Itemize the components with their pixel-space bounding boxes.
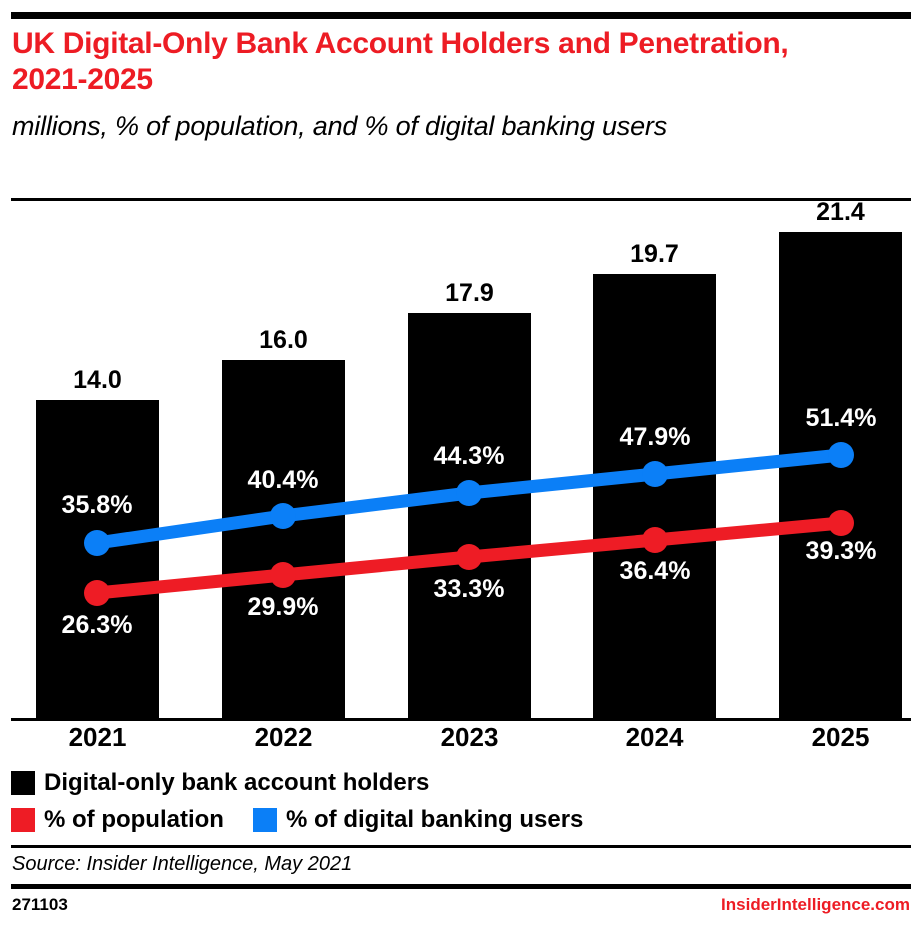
legend-item-population[interactable]: % of population	[11, 805, 224, 835]
population-label-2023: 33.3%	[399, 575, 539, 604]
digital-users-label-2023: 44.3%	[399, 442, 539, 471]
source-note: Source: Insider Intelligence, May 2021	[12, 853, 352, 876]
digital-users-line-point-2025	[828, 442, 854, 468]
digital-users-line-point-2021	[84, 530, 110, 556]
chart-legend: Digital-only bank account holders % of p…	[11, 768, 911, 838]
population-label-2025: 39.3%	[771, 537, 911, 566]
page-title: UK Digital-Only Bank Account Holders and…	[12, 26, 842, 98]
legend-label-bars: Digital-only bank account holders	[44, 769, 429, 797]
x-axis-tick-2025: 2025	[779, 722, 902, 753]
source-rule-top	[11, 845, 911, 848]
brand-link[interactable]: InsiderIntelligence.com	[721, 895, 910, 915]
blue-square-icon	[253, 808, 277, 832]
x-axis-tick-2022: 2022	[222, 722, 345, 753]
plot-area: 14.016.017.919.721.4 35.8%40.4%44.3%47.9…	[0, 200, 922, 720]
x-axis-tick-2024: 2024	[593, 722, 716, 753]
population-line-point-2025	[828, 510, 854, 536]
digital-users-line-point-2022	[270, 503, 296, 529]
population-line-point-2024	[642, 527, 668, 553]
top-rule	[11, 12, 911, 19]
digital-users-line-point-2023	[456, 480, 482, 506]
population-line-point-2023	[456, 544, 482, 570]
x-axis-line	[11, 718, 911, 721]
digital-users-label-2021: 35.8%	[27, 491, 167, 520]
x-axis-tick-2023: 2023	[408, 722, 531, 753]
population-line-point-2021	[84, 580, 110, 606]
legend-item-bars[interactable]: Digital-only bank account holders	[11, 768, 429, 798]
source-rule-bottom	[11, 884, 911, 889]
red-square-icon	[11, 808, 35, 832]
x-axis-tick-2021: 2021	[36, 722, 159, 753]
chart-page: UK Digital-Only Bank Account Holders and…	[0, 0, 922, 925]
legend-label-population: % of population	[44, 806, 224, 834]
population-label-2024: 36.4%	[585, 557, 725, 586]
digital-users-label-2022: 40.4%	[213, 466, 353, 495]
digital-users-line-point-2024	[642, 461, 668, 487]
population-label-2021: 26.3%	[27, 611, 167, 640]
population-label-2022: 29.9%	[213, 593, 353, 622]
chart-subtitle: millions, % of population, and % of digi…	[12, 108, 862, 144]
digital-users-label-2025: 51.4%	[771, 404, 911, 433]
digital-users-label-2024: 47.9%	[585, 423, 725, 452]
population-line-point-2022	[270, 562, 296, 588]
legend-label-digital-users: % of digital banking users	[286, 806, 583, 834]
document-id: 271103	[12, 895, 68, 915]
legend-item-digital-users[interactable]: % of digital banking users	[253, 805, 583, 835]
black-square-icon	[11, 771, 35, 795]
